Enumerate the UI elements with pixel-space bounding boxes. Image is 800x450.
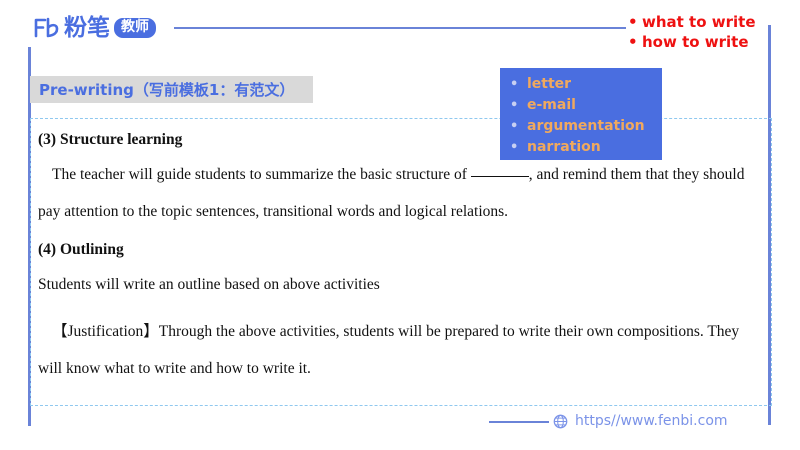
logo-badge: 教师 <box>114 18 156 38</box>
footer-url-text: https//www.fenbi.com <box>575 413 728 429</box>
section-title-band: Pre-writing（写前模板1：有范文） <box>30 76 313 103</box>
globe-icon <box>553 414 568 429</box>
bullet-icon: • <box>628 12 642 32</box>
genre-item-label: argumentation <box>527 116 645 136</box>
paragraph-structure-learning-part1: The teacher will guide students to summa… <box>52 166 471 183</box>
top-right-notes-list: • what to write • how to write <box>628 12 756 52</box>
note-item-label: how to write <box>642 32 749 52</box>
note-item: • what to write <box>628 12 756 32</box>
bullet-icon: • <box>510 117 527 137</box>
genre-item-label: e-mail <box>527 95 576 115</box>
paragraph-outlining: Students will write an outline based on … <box>38 266 756 303</box>
bullet-icon: • <box>510 75 527 95</box>
bullet-icon: • <box>510 138 527 158</box>
paragraph-structure-learning: The teacher will guide students to summa… <box>38 156 756 230</box>
genre-item: • argumentation <box>500 116 662 137</box>
brand-logo: 粉笔 教师 <box>33 13 156 43</box>
spacer <box>38 303 756 313</box>
footer-horizontal-rule <box>489 421 549 423</box>
content-body: (3) Structure learning The teacher will … <box>38 126 756 387</box>
fill-in-blank <box>471 176 529 177</box>
footer-url[interactable]: https//www.fenbi.com <box>553 410 728 432</box>
note-item-label: what to write <box>642 12 756 32</box>
note-item: • how to write <box>628 32 756 52</box>
top-horizontal-rule <box>174 27 626 29</box>
genre-callout-box: • letter • e-mail • argumentation • narr… <box>500 68 662 160</box>
paragraph-justification: 【Justification】Through the above activit… <box>38 313 756 387</box>
fenbi-logo-icon <box>33 15 59 41</box>
genre-item: • letter <box>500 74 662 95</box>
section-title: Pre-writing（写前模板1：有范文） <box>30 79 294 100</box>
genre-item: • narration <box>500 137 662 158</box>
genre-list: • letter • e-mail • argumentation • narr… <box>500 74 662 158</box>
heading-outlining: (4) Outlining <box>38 236 756 264</box>
genre-item-label: letter <box>527 74 571 94</box>
bullet-icon: • <box>628 32 642 52</box>
logo-text: 粉笔 <box>64 15 110 41</box>
bullet-icon: • <box>510 96 527 116</box>
genre-item: • e-mail <box>500 95 662 116</box>
genre-item-label: narration <box>527 137 601 157</box>
slide-canvas: 粉笔 教师 • what to write • how to write Pre… <box>0 0 800 450</box>
